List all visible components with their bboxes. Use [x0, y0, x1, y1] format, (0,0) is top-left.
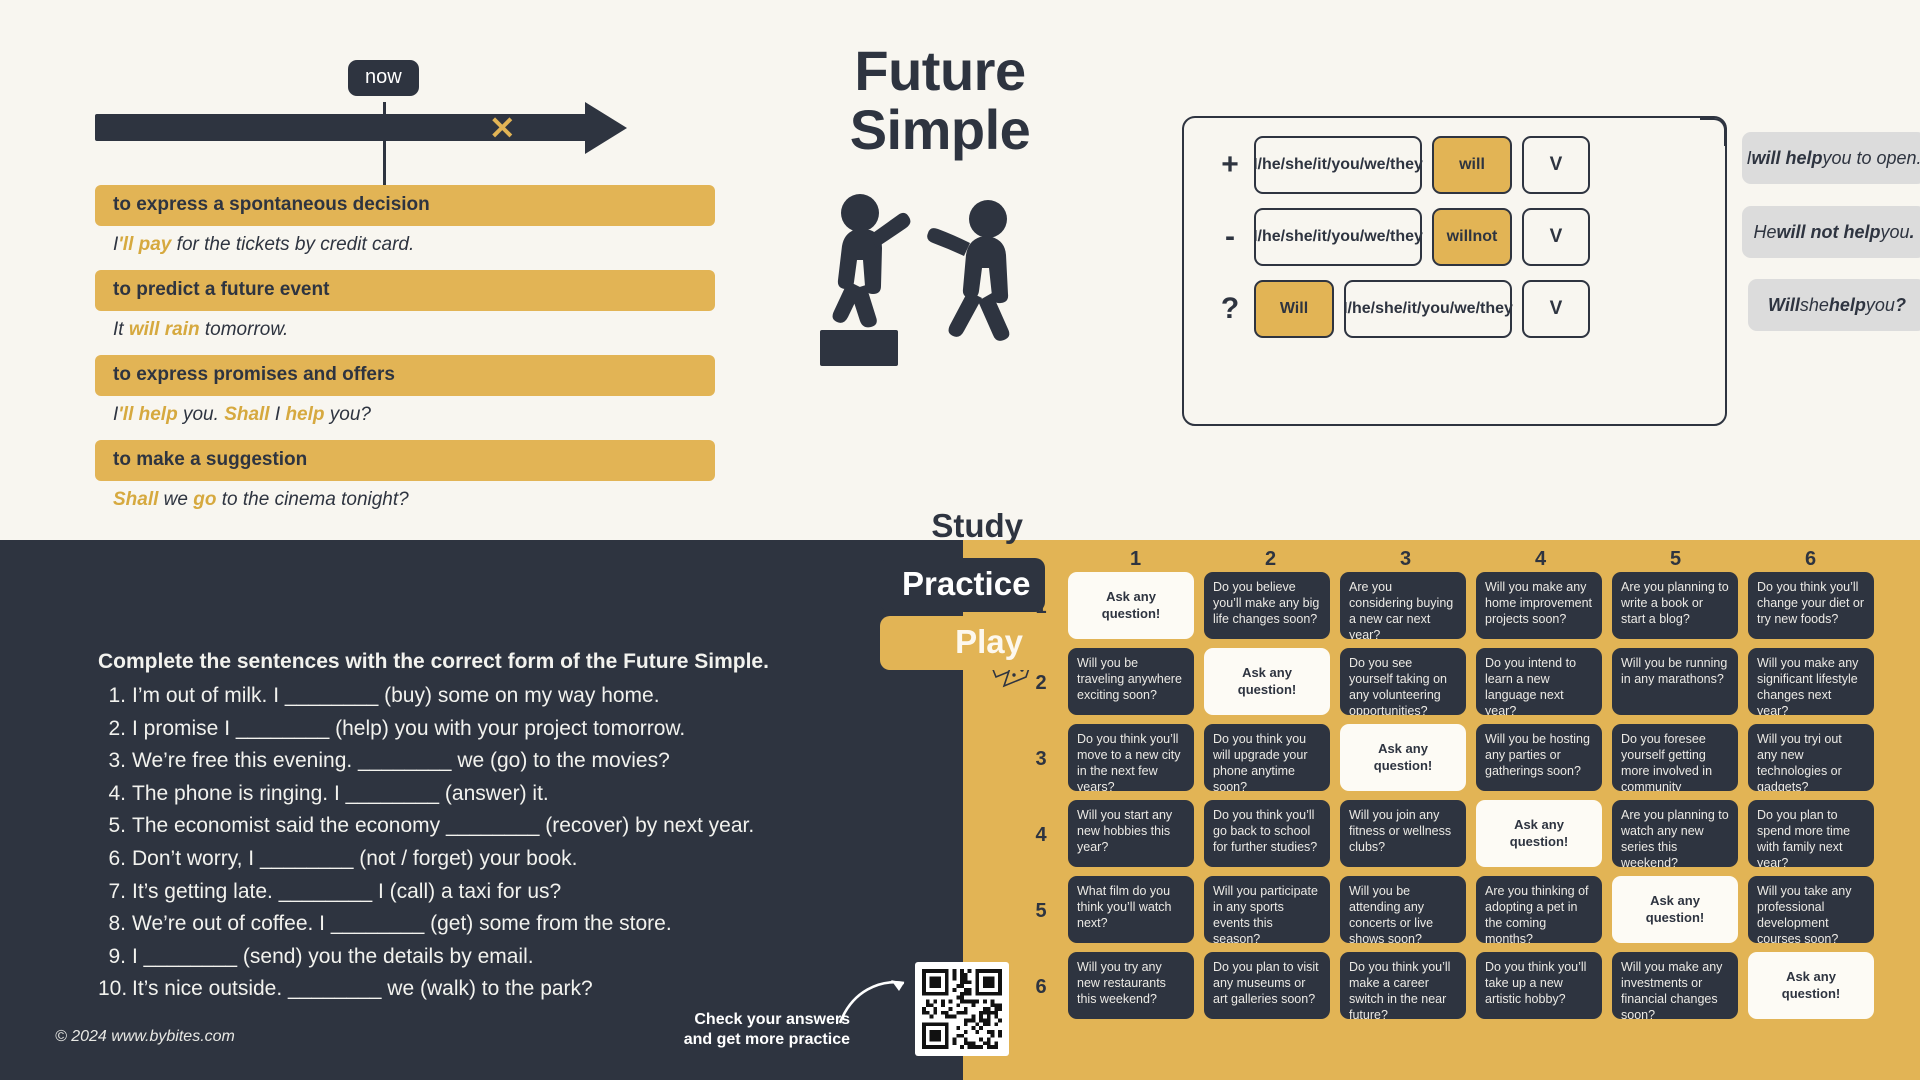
exercise-item-text: We’re free this evening. ________ we (go…: [132, 748, 670, 774]
usage-example: I'll help you. Shall I help you?: [95, 396, 715, 433]
usage-rule: to make a suggestion: [95, 440, 715, 481]
board-cell-question[interactable]: Do you foresee yourself getting more inv…: [1612, 724, 1738, 791]
grammar-cell: V: [1522, 136, 1590, 194]
board-cell-question[interactable]: Do you see yourself taking on any volunt…: [1340, 648, 1466, 715]
exercise-item-text: Don’t worry, I ________ (not / forget) y…: [132, 846, 578, 872]
board-cell-question[interactable]: Will you join any fitness or wellness cl…: [1340, 800, 1466, 867]
board-cell-question[interactable]: Will you be traveling anywhere exciting …: [1068, 648, 1194, 715]
board-cell-question[interactable]: Will you make any significant lifestyle …: [1748, 648, 1874, 715]
grammar-cell: will: [1432, 136, 1512, 194]
connector-elbow: [1700, 118, 1726, 146]
board-cell-question[interactable]: What film do you think you’ll watch next…: [1068, 876, 1194, 943]
board-cell-free[interactable]: Ask any question!: [1612, 876, 1738, 943]
qr-code[interactable]: [915, 962, 1009, 1056]
board-cell-question[interactable]: Will you be running in any marathons?: [1612, 648, 1738, 715]
exercise-item: 7.It’s getting late. ________ I (call) a…: [98, 879, 798, 905]
board-cell-question[interactable]: Do you think you’ll move to a new city i…: [1068, 724, 1194, 791]
exercise-item-number: 5.: [98, 813, 132, 839]
exercise-item-number: 10.: [98, 976, 132, 1002]
board-column-header: 6: [1743, 548, 1878, 571]
board-cell-free[interactable]: Ask any question!: [1476, 800, 1602, 867]
study-section: now × to express a spontaneous decisionI…: [0, 0, 1920, 540]
copyright-text: © 2024 www.bybites.com: [55, 1028, 235, 1046]
board-cell-question[interactable]: Will you tryi out any new technologies o…: [1748, 724, 1874, 791]
board-cell-question[interactable]: Will you try any new restaurants this we…: [1068, 952, 1194, 1019]
grammar-cell: V: [1522, 280, 1590, 338]
exercise-item-text: I ________ (send) you the details by ema…: [132, 944, 534, 970]
exercise-item-text: It’s nice outside. ________ we (walk) to…: [132, 976, 593, 1002]
board-cell-free[interactable]: Ask any question!: [1340, 724, 1466, 791]
exercise-item: 3.We’re free this evening. ________ we (…: [98, 748, 798, 774]
timeline-diagram: now ×: [95, 60, 715, 180]
exercise-title: Complete the sentences with the correct …: [98, 650, 798, 674]
exercise-items: 1.I’m out of milk. I ________ (buy) some…: [98, 683, 798, 1002]
usage-rule: to express promises and offers: [95, 355, 715, 396]
exercise-item-text: The phone is ringing. I ________ (answer…: [132, 781, 549, 807]
board-column-header: 2: [1203, 548, 1338, 571]
board-cell-free[interactable]: Ask any question!: [1204, 648, 1330, 715]
usage-list: to express a spontaneous decisionI'll pa…: [95, 178, 715, 518]
exercise-item-number: 1.: [98, 683, 132, 709]
board-column-header: 4: [1473, 548, 1608, 571]
grammar-cell: I/he/she/it/you/we/they: [1254, 208, 1422, 266]
title-line-1: Future: [780, 42, 1100, 101]
check-answers-line-2: and get more practice: [660, 1030, 850, 1050]
exercise-item-number: 9.: [98, 944, 132, 970]
board-row: 1Ask any question!Do you believe you’ll …: [1068, 572, 1884, 639]
board-column-header: 1: [1068, 548, 1203, 571]
timeline-bar: [95, 114, 595, 141]
grammar-cell: Will: [1254, 280, 1334, 338]
board-cell-question[interactable]: Will you be attending any concerts or li…: [1340, 876, 1466, 943]
board-cell-free[interactable]: Ask any question!: [1748, 952, 1874, 1019]
board-cell-question[interactable]: Are you planning to write a book or star…: [1612, 572, 1738, 639]
board-column-header: 3: [1338, 548, 1473, 571]
curved-arrow-icon: [838, 975, 912, 1029]
usage-rule: to predict a future event: [95, 270, 715, 311]
board-cell-question[interactable]: Do you think you’ll take up a new artist…: [1476, 952, 1602, 1019]
exercise-item-number: 6.: [98, 846, 132, 872]
grammar-example-sentence: Will she help you?: [1748, 279, 1920, 331]
grammar-row: -I/he/she/it/you/we/theywillnotV: [1206, 208, 1600, 266]
future-marker-icon: ×: [488, 110, 517, 144]
exercise-block: Complete the sentences with the correct …: [98, 650, 798, 1009]
exercise-item-text: I promise I ________ (help) you with you…: [132, 716, 685, 742]
exercise-item-text: The economist said the economy ________ …: [132, 813, 754, 839]
board-column-headers: 123456: [1068, 548, 1878, 571]
grammar-example-sentence: I will help you to open.: [1742, 132, 1920, 184]
exercise-item-number: 3.: [98, 748, 132, 774]
qr-code-image: [922, 969, 1002, 1049]
exercise-item-text: It’s getting late. ________ I (call) a t…: [132, 879, 561, 905]
exercise-item: 9.I ________ (send) you the details by e…: [98, 944, 798, 970]
tab-study[interactable]: Study: [880, 500, 1045, 554]
exercise-item: 8.We’re out of coffee. I ________ (get) …: [98, 911, 798, 937]
grammar-cell: I/he/she/it/you/we/they: [1254, 136, 1422, 194]
board-cell-free[interactable]: Ask any question!: [1068, 572, 1194, 639]
board-cell-question[interactable]: Do you plan to spend more time with fami…: [1748, 800, 1874, 867]
exercise-item-text: I’m out of milk. I ________ (buy) some o…: [132, 683, 660, 709]
exercise-item: 6.Don’t worry, I ________ (not / forget)…: [98, 846, 798, 872]
grammar-cell: I/he/she/it/you/we/they: [1344, 280, 1512, 338]
exercise-item: 5.The economist said the economy _______…: [98, 813, 798, 839]
board-cell-question[interactable]: Do you plan to visit any museums or art …: [1204, 952, 1330, 1019]
board-cell-question[interactable]: Will you be hosting any parties or gathe…: [1476, 724, 1602, 791]
usage-example: I'll pay for the tickets by credit card.: [95, 226, 715, 263]
grammar-cell: willnot: [1432, 208, 1512, 266]
grammar-row-sign: -: [1206, 220, 1254, 254]
grammar-row: +I/he/she/it/you/we/theywillV: [1206, 136, 1600, 194]
check-answers-line-1: Check your answers: [660, 1010, 850, 1030]
board-cell-question[interactable]: Will you make any investments or financi…: [1612, 952, 1738, 1019]
helping-hand-illustration: [820, 185, 1070, 370]
board-cell-question[interactable]: Do you intend to learn a new language ne…: [1476, 648, 1602, 715]
board-cell-question[interactable]: Do you believe you’ll make any big life …: [1204, 572, 1330, 639]
board-cell-question[interactable]: Do you think you’ll make a career switch…: [1340, 952, 1466, 1019]
board-row: 6Will you try any new restaurants this w…: [1068, 952, 1884, 1019]
now-label: now: [348, 60, 419, 96]
board-row-header: 4: [1026, 824, 1056, 847]
board-column-header: 5: [1608, 548, 1743, 571]
exercise-item-number: 7.: [98, 879, 132, 905]
exercise-item-number: 4.: [98, 781, 132, 807]
grammar-example-sentence: He will not help you.: [1742, 206, 1920, 258]
connector-line: [1725, 262, 1727, 284]
exercise-item: 10.It’s nice outside. ________ we (walk)…: [98, 976, 798, 1002]
board-row-header: 2: [1026, 672, 1056, 695]
grammar-cell: V: [1522, 208, 1590, 266]
board-cell-question[interactable]: Will you take any professional developme…: [1748, 876, 1874, 943]
grammar-row-sign: +: [1206, 148, 1254, 182]
grammar-structure-table: +I/he/she/it/you/we/theywillV-I/he/she/i…: [1182, 116, 1727, 426]
section-tabs: Study Practice Play: [880, 500, 1045, 674]
grammar-row: ?WillI/he/she/it/you/we/theyV: [1206, 280, 1600, 338]
tab-practice[interactable]: Practice: [880, 558, 1045, 612]
board-row: 4Will you start any new hobbies this yea…: [1068, 800, 1884, 867]
board-cell-question[interactable]: Are you considering buying a new car nex…: [1340, 572, 1466, 639]
board-row-header: 3: [1026, 748, 1056, 771]
board-row-header: 6: [1026, 976, 1056, 999]
title-line-2: Simple: [780, 101, 1100, 160]
exercise-item-number: 8.: [98, 911, 132, 937]
usage-example: It will rain tomorrow.: [95, 311, 715, 348]
board-grid: 1Ask any question!Do you believe you’ll …: [1068, 572, 1884, 1028]
check-answers-text: Check your answers and get more practice: [660, 1010, 850, 1051]
exercise-item: 1.I’m out of milk. I ________ (buy) some…: [98, 683, 798, 709]
board-row: 3Do you think you’ll move to a new city …: [1068, 724, 1884, 791]
board-cell-question[interactable]: Do you think you will upgrade your phone…: [1204, 724, 1330, 791]
exercise-item: 4. The phone is ringing. I ________ (ans…: [98, 781, 798, 807]
timeline-arrowhead: [585, 102, 627, 154]
usage-rule: to express a spontaneous decision: [95, 185, 715, 226]
board-row: 2Will you be traveling anywhere exciting…: [1068, 648, 1884, 715]
board-cell-question[interactable]: Will you participate in any sports event…: [1204, 876, 1330, 943]
tab-play[interactable]: Play: [880, 616, 1045, 670]
exercise-item-text: We’re out of coffee. I ________ (get) so…: [132, 911, 672, 937]
grammar-row-sign: ?: [1206, 292, 1254, 326]
exercise-item: 2.I promise I ________ (help) you with y…: [98, 716, 798, 742]
board-cell-question[interactable]: Are you planning to watch any new series…: [1612, 800, 1738, 867]
board-row: 5What film do you think you’ll watch nex…: [1068, 876, 1884, 943]
usage-example: Shall we go to the cinema tonight?: [95, 481, 715, 518]
board-cell-question[interactable]: Are you thinking of adopting a pet in th…: [1476, 876, 1602, 943]
board-cell-question[interactable]: Will you start any new hobbies this year…: [1068, 800, 1194, 867]
board-cell-question[interactable]: Will you make any home improvement proje…: [1476, 572, 1602, 639]
board-cell-question[interactable]: Do you think you’ll change your diet or …: [1748, 572, 1874, 639]
board-cell-question[interactable]: Do you think you’ll go back to school fo…: [1204, 800, 1330, 867]
page-title: Future Simple: [780, 42, 1100, 160]
board-row-header: 5: [1026, 900, 1056, 923]
exercise-item-number: 2.: [98, 716, 132, 742]
connector-line: [1725, 188, 1727, 210]
